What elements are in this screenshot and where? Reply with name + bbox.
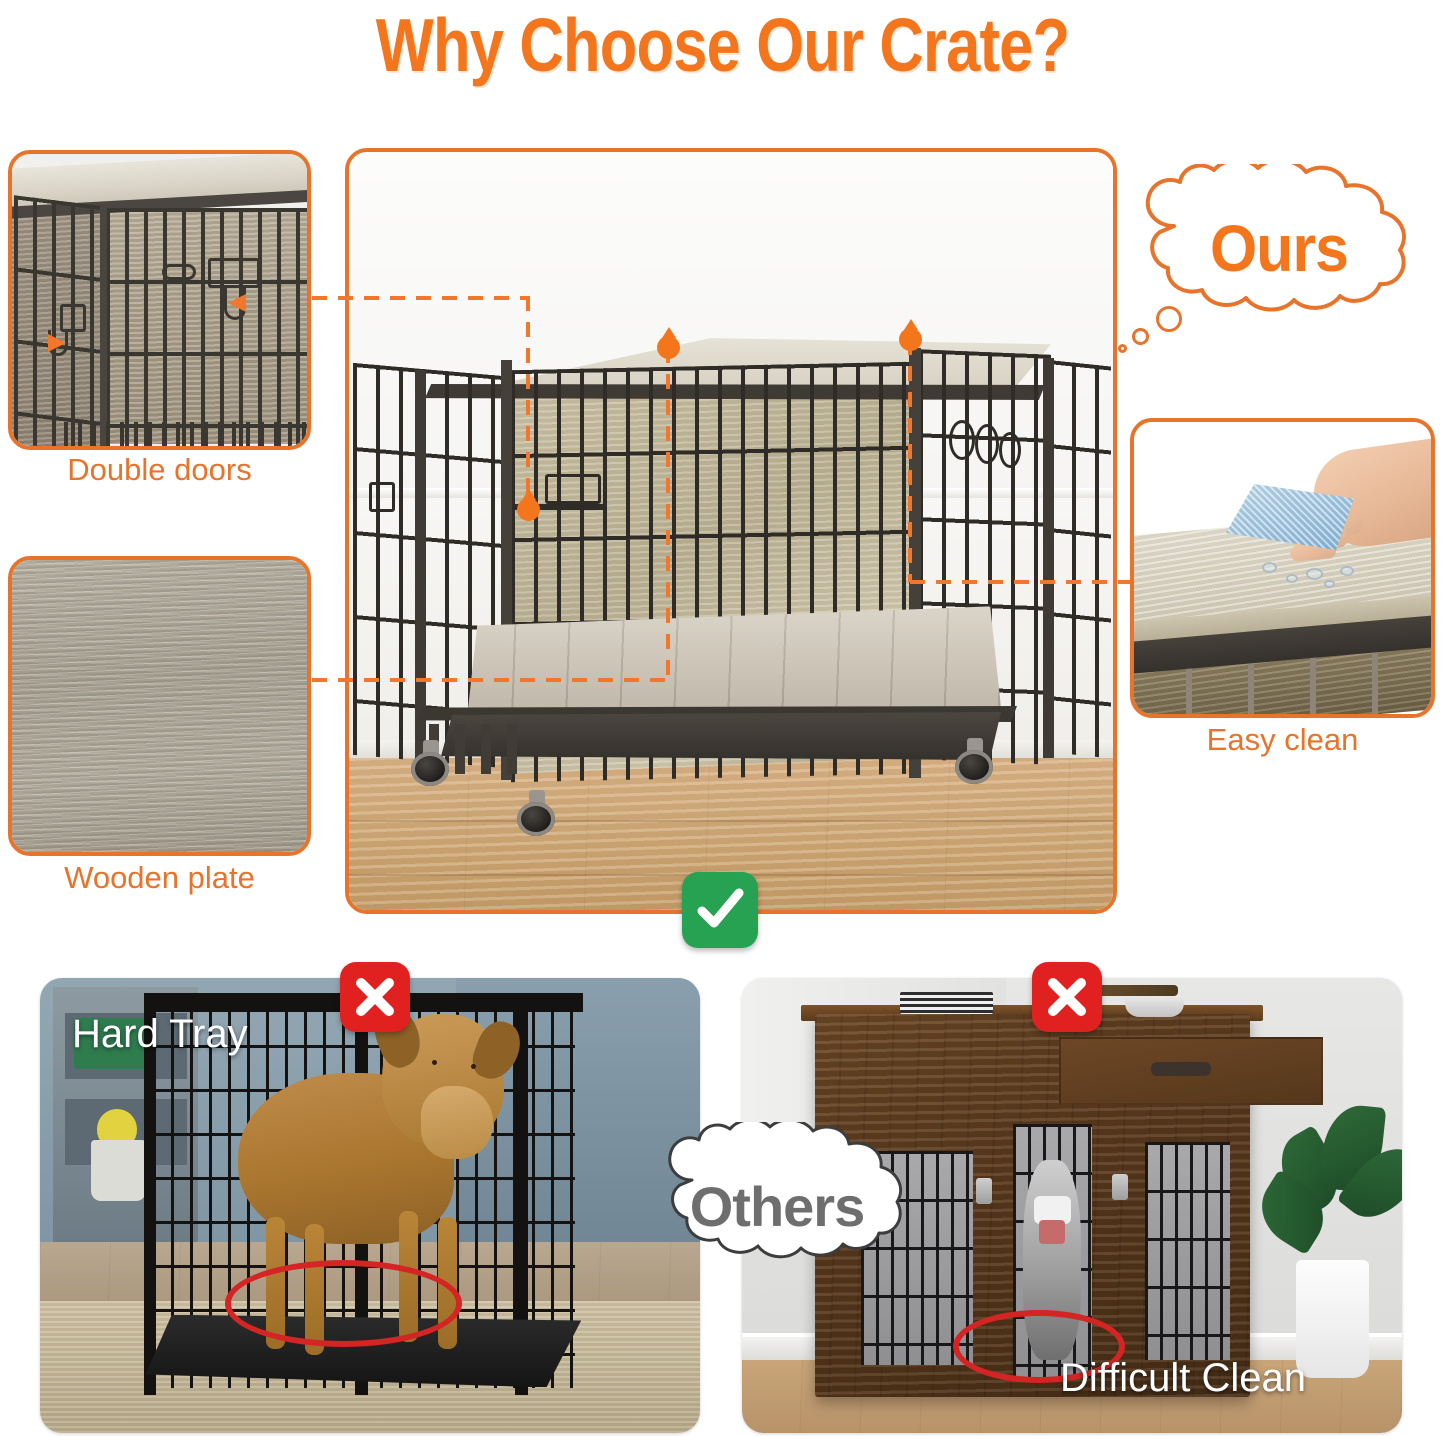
bubble-dot-large [1156, 306, 1182, 332]
water-droplet [1324, 580, 1335, 588]
caption-wooden-plate: Wooden plate [8, 860, 311, 896]
x-icon [1044, 974, 1090, 1020]
callout-pin-easy-clean [899, 328, 922, 351]
label-difficult-clean: Difficult Clean [1060, 1356, 1306, 1401]
bubble-dot-small [1118, 344, 1127, 353]
door-latch-left [60, 304, 86, 332]
hero-latch-loop-b [975, 424, 999, 464]
ours-bubble-label: Ours [1131, 210, 1427, 286]
caption-double-doors: Double doors [8, 452, 311, 488]
x-icon [352, 974, 398, 1020]
others-speech-bubble: Others [646, 1122, 908, 1304]
hero-latch-front [545, 474, 601, 504]
label-hard-tray: Hard Tray [72, 1012, 248, 1057]
cabinet-grill-right [1145, 1142, 1231, 1360]
x-badge-hard-tray [340, 962, 410, 1032]
water-droplet [1306, 568, 1323, 580]
double-doors-photo [12, 154, 307, 446]
latch-arrow-left-icon [48, 334, 66, 352]
callout-line-wooden-plate-h [312, 678, 670, 682]
caster-wheel-left [411, 740, 451, 786]
plant-pot [1296, 1260, 1369, 1378]
cabinet-hinge-left [976, 1178, 992, 1204]
crate-mesh-front [106, 208, 311, 446]
door-latch-bar [162, 264, 196, 280]
feature-panel-easy-clean [1130, 418, 1435, 718]
ours-speech-bubble: Ours [1118, 158, 1440, 368]
water-droplet [1286, 574, 1298, 583]
hero-latch-left [369, 482, 395, 512]
callout-line-easy-clean-h [910, 580, 1132, 584]
hero-latch-loop-c [999, 432, 1021, 468]
callout-pin-wooden-plate [657, 336, 680, 359]
crate-mesh-side [14, 195, 102, 450]
latch-arrow-right-icon [228, 294, 246, 312]
check-icon [694, 884, 746, 936]
callout-line-double-doors-v [526, 296, 530, 504]
wooden-plate-texture [12, 560, 307, 852]
caption-easy-clean: Easy clean [1130, 722, 1435, 758]
drawer-handle [1151, 1062, 1210, 1076]
bubble-dot-medium [1132, 328, 1149, 345]
hero-latch-loop-a [949, 420, 975, 460]
easy-clean-photo [1134, 422, 1431, 714]
caster-wheel-front [517, 790, 557, 836]
water-droplet [1262, 562, 1277, 573]
feature-panel-double-doors [8, 150, 311, 450]
door-latch-right [208, 258, 260, 288]
x-badge-difficult-clean [1032, 962, 1102, 1032]
page-title: Why Choose Our Crate? [130, 2, 1315, 88]
decor-bowl [1125, 996, 1184, 1016]
hero-panel-our-crate [345, 148, 1117, 914]
check-badge [682, 872, 758, 948]
callout-line-wooden-plate-v [666, 348, 670, 680]
problem-highlight-ellipse [225, 1260, 463, 1346]
crate-base-tray [441, 712, 1001, 760]
hero-photo [349, 152, 1113, 910]
water-droplet [1340, 566, 1354, 576]
callout-line-double-doors-h [312, 296, 530, 300]
others-bubble-label: Others [646, 1174, 908, 1239]
crate-mesh-far-panel [1049, 360, 1111, 759]
feature-panel-wooden-plate [8, 556, 311, 856]
infographic-page: Why Choose Our Crate? Double doors Woode… [0, 0, 1445, 1436]
cabinet-hinge-right [1112, 1174, 1128, 1200]
folded-towels [900, 992, 992, 1015]
caster-wheel-right [955, 738, 995, 784]
callout-line-easy-clean-v [908, 340, 912, 582]
callout-pin-double-doors [517, 498, 540, 521]
comparison-panel-hard-tray: Hard Tray [40, 978, 700, 1433]
